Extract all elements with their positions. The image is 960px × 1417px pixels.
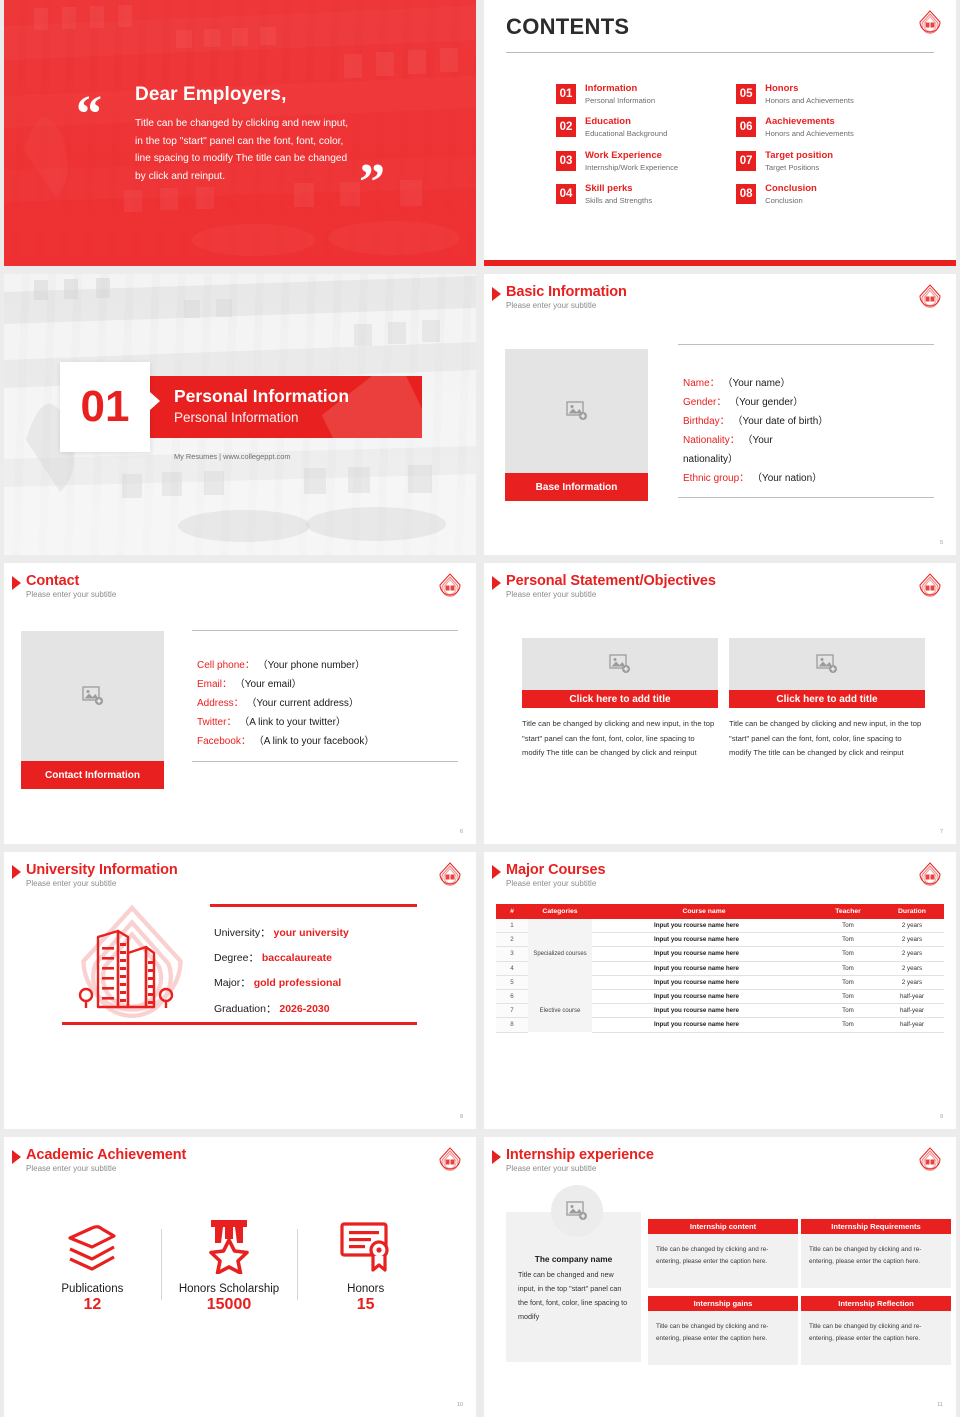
medal-star-icon — [161, 1215, 298, 1277]
divider-footer: My Resumes | www.collegeppt.com — [174, 452, 291, 461]
info-key: Gender： — [683, 397, 726, 408]
courses-table: # Categories Course name Teacher Duratio… — [496, 904, 944, 1033]
info-bottom-rule — [192, 761, 458, 762]
divider-section-number: 01 — [60, 362, 150, 452]
cell-duration: half-year — [880, 1004, 944, 1018]
page-number: 10 — [457, 1402, 463, 1408]
info-key: Ethnic group： — [683, 473, 749, 484]
info-key: Graduation： — [214, 1003, 276, 1015]
cell-teacher: Tom — [816, 947, 880, 961]
info-row: Degree： baccalaureate — [214, 946, 349, 971]
slide-deck: “ Dear Employers, Title can be changed b… — [0, 0, 960, 1400]
page-title: Academic Achievement — [26, 1147, 186, 1163]
stat-value: 15000 — [161, 1296, 298, 1314]
statement-card: Click here to add title Title can be cha… — [522, 638, 718, 761]
contents-item-07[interactable]: 07 Target position Target Positions — [736, 151, 854, 172]
photo-caption-button[interactable]: Base Information — [505, 473, 648, 501]
cell-teacher: Tom — [816, 961, 880, 975]
certificate-icon — [297, 1215, 434, 1277]
stat-label: Publications — [24, 1283, 161, 1295]
card-text: Title can be changed by clicking and re-… — [801, 1234, 951, 1288]
books-icon — [24, 1215, 161, 1277]
info-value: （Your date of birth） — [732, 416, 828, 427]
cell-index: 3 — [496, 947, 528, 961]
page-subtitle: Please enter your subtitle — [26, 590, 116, 599]
slide-header: Basic Information Please enter your subt… — [492, 284, 627, 310]
contents-desc: Educational Background — [585, 129, 667, 138]
slide-contact: Contact Please enter your subtitle Conta… — [4, 563, 476, 844]
contents-number: 08 — [736, 184, 756, 204]
contents-item-01[interactable]: 01 Information Personal Information — [556, 84, 678, 105]
stat-value: 15 — [297, 1296, 434, 1314]
add-title-button[interactable]: Click here to add title — [522, 690, 718, 708]
info-key: Cell phone： — [197, 660, 255, 671]
contents-number: 04 — [556, 184, 576, 204]
cell-course-name: Input you rcourse name here — [592, 961, 816, 975]
cell-index: 1 — [496, 919, 528, 933]
university-icon-area — [62, 907, 210, 1019]
info-value: （Your current address） — [246, 698, 358, 709]
header-arrow-icon — [492, 576, 501, 590]
info-value: （A link to your twitter） — [239, 717, 346, 728]
photo-placeholder[interactable] — [505, 349, 648, 473]
contents-desc: Conclusion — [765, 196, 817, 205]
page-title: Major Courses — [506, 862, 605, 878]
stat-label: Honors Scholarship — [161, 1283, 298, 1295]
add-image-icon — [566, 401, 588, 421]
cover-title: Dear Employers, — [135, 84, 286, 106]
university-shield-logo-icon — [918, 284, 942, 310]
cell-course-name: Input you rcourse name here — [592, 1018, 816, 1032]
slide-section-divider: 01 Personal Information Personal Informa… — [4, 274, 476, 555]
info-key: Degree： — [214, 952, 259, 964]
cell-course-name: Input you rcourse name here — [592, 933, 816, 947]
slide-contents: CONTENTS 01 Information Personal Informa… — [484, 0, 956, 266]
header-arrow-icon — [12, 865, 21, 879]
contents-title: CONTENTS — [506, 14, 629, 40]
table-row[interactable]: 1 Specialized courses Input you rcourse … — [496, 919, 944, 933]
header-arrow-icon — [12, 1150, 21, 1164]
cell-course-name: Input you rcourse name here — [592, 947, 816, 961]
basic-info-list: Name： （Your name） Gender： （Your gender） … — [678, 345, 934, 497]
info-row: Birthday： （Your date of birth） — [683, 412, 934, 431]
add-image-icon — [82, 686, 104, 706]
add-image-icon — [609, 654, 631, 674]
cell-index: 8 — [496, 1018, 528, 1032]
info-row: Major： gold professional — [214, 971, 349, 996]
cell-index: 4 — [496, 961, 528, 975]
contents-item-05[interactable]: 05 Honors Honors and Achievements — [736, 84, 854, 105]
info-value: your university — [274, 927, 349, 939]
stat-card: Honors Scholarship 15000 — [161, 1215, 298, 1314]
slide-header: Personal Statement/Objectives Please ent… — [492, 573, 716, 599]
university-shield-logo-icon — [438, 1147, 462, 1173]
contents-label: Skill perks — [585, 184, 652, 195]
photo-placeholder[interactable] — [522, 638, 718, 690]
page-subtitle: Please enter your subtitle — [26, 1164, 186, 1173]
cell-duration: half-year — [880, 1018, 944, 1032]
cell-index: 2 — [496, 933, 528, 947]
photo-placeholder[interactable] — [551, 1185, 603, 1237]
contents-column-left: 01 Information Personal Information 02 E… — [556, 84, 678, 205]
slide-major-courses: Major Courses Please enter your subtitle… — [484, 852, 956, 1129]
page-number: 8 — [460, 1114, 463, 1120]
info-value: （Your phone number） — [258, 660, 365, 671]
table-row[interactable]: 6 Elective course Input you rcourse name… — [496, 989, 944, 1003]
statement-text: Title can be changed by clicking and new… — [522, 717, 718, 761]
contents-desc: Honors and Achievements — [765, 129, 854, 138]
contents-label: Work Experience — [585, 151, 678, 162]
column-header-index: # — [496, 904, 528, 919]
contents-item-03[interactable]: 03 Work Experience Internship/Work Exper… — [556, 151, 678, 172]
page-title: Personal Statement/Objectives — [506, 573, 716, 589]
slide-personal-statement: Personal Statement/Objectives Please ent… — [484, 563, 956, 844]
university-panel: University： your university Degree： bacc… — [62, 904, 417, 1025]
internship-card: Internship Reflection Title can be chang… — [801, 1296, 951, 1365]
slide-university-information: University Information Please enter your… — [4, 852, 476, 1129]
info-value: （Your gender） — [729, 397, 803, 408]
contents-divider — [506, 52, 934, 53]
cell-teacher: Tom — [816, 933, 880, 947]
contents-desc: Internship/Work Experience — [585, 163, 678, 172]
statement-card: Click here to add title Title can be cha… — [729, 638, 925, 761]
slide-header: Academic Achievement Please enter your s… — [12, 1147, 186, 1173]
contents-bottom-bar — [484, 260, 956, 266]
info-row: Nationality： （Your — [683, 431, 934, 450]
buildings-icon — [62, 907, 210, 1019]
page-subtitle: Please enter your subtitle — [506, 590, 716, 599]
page-number: 7 — [940, 829, 943, 835]
cell-index: 5 — [496, 975, 528, 989]
contents-number: 06 — [736, 117, 756, 137]
photo-placeholder[interactable] — [729, 638, 925, 690]
info-key: Major： — [214, 977, 251, 989]
page-title: Contact — [26, 573, 116, 589]
header-arrow-icon — [12, 576, 21, 590]
contents-item-06[interactable]: 06 Aachievements Honors and Achievements — [736, 117, 854, 138]
card-heading: Internship Requirements — [801, 1219, 951, 1234]
contents-number: 07 — [736, 151, 756, 171]
stat-value: 12 — [24, 1296, 161, 1314]
contents-label: Aachievements — [765, 117, 854, 128]
contents-desc: Skills and Strengths — [585, 196, 652, 205]
page-title: University Information — [26, 862, 178, 878]
page-number: 5 — [940, 540, 943, 546]
internship-card: Internship Requirements Title can be cha… — [801, 1219, 951, 1288]
slide-header: Major Courses Please enter your subtitle — [492, 862, 605, 888]
company-name: The company name — [506, 1254, 641, 1264]
add-image-icon — [566, 1201, 588, 1221]
info-value: nationality） — [683, 454, 738, 465]
university-shield-logo-icon — [918, 10, 942, 36]
info-key: Nationality： — [683, 435, 740, 446]
info-key: Twitter： — [197, 717, 236, 728]
info-row: Email： （Your email） — [197, 675, 458, 694]
contents-column-right: 05 Honors Honors and Achievements 06 Aac… — [736, 84, 854, 205]
cell-duration: 2 years — [880, 919, 944, 933]
add-image-icon — [816, 654, 838, 674]
page-subtitle: Please enter your subtitle — [506, 1164, 654, 1173]
contents-number: 03 — [556, 151, 576, 171]
university-shield-logo-icon — [438, 862, 462, 888]
page-number: 6 — [460, 829, 463, 835]
internship-card: Internship content Title can be changed … — [648, 1219, 798, 1288]
contents-desc: Honors and Achievements — [765, 96, 854, 105]
info-row: Address： （Your current address） — [197, 694, 458, 713]
column-header-course-name: Course name — [592, 904, 816, 919]
info-value: （Your name） — [722, 378, 790, 389]
stat-card: Publications 12 — [24, 1215, 161, 1314]
slide-internship-experience: Internship experience Please enter your … — [484, 1137, 956, 1417]
quote-open-icon: “ — [76, 96, 100, 133]
column-header-duration: Duration — [880, 904, 944, 919]
internship-card: Internship gains Title can be changed by… — [648, 1296, 798, 1365]
column-header-categories: Categories — [528, 904, 592, 919]
cell-teacher: Tom — [816, 1018, 880, 1032]
contents-number: 01 — [556, 84, 576, 104]
contents-item-08[interactable]: 08 Conclusion Conclusion — [736, 184, 854, 205]
slide-academic-achievement: Academic Achievement Please enter your s… — [4, 1137, 476, 1417]
cell-course-name: Input you rcourse name here — [592, 975, 816, 989]
card-heading: Internship content — [648, 1219, 798, 1234]
divider-title: Personal Information — [174, 386, 349, 407]
info-row: nationality） — [683, 450, 934, 469]
info-row: University： your university — [214, 921, 349, 946]
header-arrow-icon — [492, 287, 501, 301]
page-title: Basic Information — [506, 284, 627, 300]
university-shield-logo-icon — [918, 862, 942, 888]
column-header-teacher: Teacher — [816, 904, 880, 919]
add-title-button[interactable]: Click here to add title — [729, 690, 925, 708]
divider-arrow-icon — [150, 392, 160, 410]
cell-duration: 2 years — [880, 947, 944, 961]
info-key: Email： — [197, 679, 232, 690]
info-key: University： — [214, 927, 271, 939]
university-shield-logo-icon — [918, 573, 942, 599]
card-heading: Internship Reflection — [801, 1296, 951, 1311]
cell-teacher: Tom — [816, 919, 880, 933]
info-value: （Your — [742, 435, 772, 446]
info-key: Facebook： — [197, 736, 251, 747]
info-row: Cell phone： （Your phone number） — [197, 656, 458, 675]
stat-card: Honors 15 — [297, 1215, 434, 1314]
contents-item-02[interactable]: 02 Education Educational Background — [556, 117, 678, 138]
table-header-row: # Categories Course name Teacher Duratio… — [496, 904, 944, 919]
slide-cover: “ Dear Employers, Title can be changed b… — [4, 0, 476, 266]
university-shield-logo-icon — [438, 573, 462, 599]
contents-label: Education — [585, 117, 667, 128]
info-row: Twitter： （A link to your twitter） — [197, 713, 458, 732]
info-bottom-rule — [678, 497, 934, 498]
info-value: （A link to your facebook） — [254, 736, 375, 747]
info-row: Gender： （Your gender） — [683, 393, 934, 412]
page-subtitle: Please enter your subtitle — [26, 879, 178, 888]
cell-teacher: Tom — [816, 989, 880, 1003]
card-text: Title can be changed by clicking and re-… — [648, 1311, 798, 1365]
photo-caption-button[interactable]: Contact Information — [21, 761, 164, 789]
info-value: 2026-2030 — [279, 1003, 329, 1015]
cell-course-name: Input you rcourse name here — [592, 989, 816, 1003]
header-arrow-icon — [492, 1150, 501, 1164]
cell-duration: 2 years — [880, 933, 944, 947]
achievement-stats: Publications 12 Honors Scholarship 150 — [24, 1215, 434, 1314]
slide-header: Internship experience Please enter your … — [492, 1147, 654, 1173]
contents-item-04[interactable]: 04 Skill perks Skills and Strengths — [556, 184, 678, 205]
page-subtitle: Please enter your subtitle — [506, 879, 605, 888]
slide-header: Contact Please enter your subtitle — [12, 573, 116, 599]
card-text: Title can be changed by clicking and re-… — [801, 1311, 951, 1365]
cell-category: Elective course — [528, 989, 592, 1032]
contents-label: Information — [585, 84, 655, 95]
contents-number: 02 — [556, 117, 576, 137]
cell-duration: 2 years — [880, 975, 944, 989]
university-info-list: University： your university Degree： bacc… — [210, 907, 349, 1022]
cell-index: 7 — [496, 1004, 528, 1018]
info-row: Name： （Your name） — [683, 374, 934, 393]
photo-placeholder[interactable] — [21, 631, 164, 761]
university-shield-logo-icon — [918, 1147, 942, 1173]
statement-text: Title can be changed by clicking and new… — [729, 717, 925, 761]
contents-label: Honors — [765, 84, 854, 95]
page-number: 11 — [937, 1402, 943, 1408]
info-key: Birthday： — [683, 416, 730, 427]
page-title: Internship experience — [506, 1147, 654, 1163]
slide-header: University Information Please enter your… — [12, 862, 178, 888]
info-row: Graduation： 2026-2030 — [214, 997, 349, 1022]
info-value: gold professional — [254, 977, 342, 989]
contents-label: Target position — [765, 151, 833, 162]
quote-close-icon: ” — [359, 164, 383, 201]
slide-basic-information: Basic Information Please enter your subt… — [484, 274, 956, 555]
info-key: Address： — [197, 698, 244, 709]
cell-teacher: Tom — [816, 1004, 880, 1018]
page-number: 9 — [940, 1114, 943, 1120]
info-value: （Your nation） — [752, 473, 822, 484]
company-description: Title can be changed and new input, in t… — [518, 1268, 628, 1324]
contents-list: 01 Information Personal Information 02 E… — [556, 84, 854, 205]
card-text: Title can be changed by clicking and re-… — [648, 1234, 798, 1288]
cell-category: Specialized courses — [528, 919, 592, 989]
cell-duration: half-year — [880, 989, 944, 1003]
cell-course-name: Input you rcourse name here — [592, 1004, 816, 1018]
contact-info-list: Cell phone： （Your phone number） Email： （… — [192, 631, 458, 761]
contents-label: Conclusion — [765, 184, 817, 195]
stat-label: Honors — [297, 1283, 434, 1295]
cover-body-text: Title can be changed by clicking and new… — [135, 115, 350, 186]
contents-desc: Personal Information — [585, 96, 655, 105]
cell-course-name: Input you rcourse name here — [592, 919, 816, 933]
info-value: （Your email） — [235, 679, 302, 690]
info-row: Facebook： （A link to your facebook） — [197, 732, 458, 751]
cell-duration: 2 years — [880, 961, 944, 975]
card-heading: Internship gains — [648, 1296, 798, 1311]
contents-number: 05 — [736, 84, 756, 104]
info-value: baccalaureate — [262, 952, 332, 964]
header-arrow-icon — [492, 865, 501, 879]
info-row: Ethnic group： （Your nation） — [683, 469, 934, 488]
info-key: Name： — [683, 378, 720, 389]
cell-index: 6 — [496, 989, 528, 1003]
contents-desc: Target Positions — [765, 163, 833, 172]
cell-teacher: Tom — [816, 975, 880, 989]
divider-subtitle: Personal Information — [174, 410, 299, 425]
page-subtitle: Please enter your subtitle — [506, 301, 627, 310]
